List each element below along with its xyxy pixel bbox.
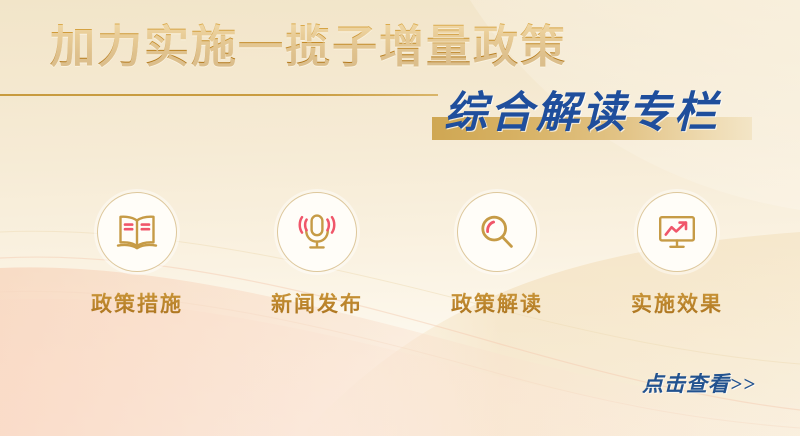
page-subtitle: 综合解读专栏 — [444, 88, 720, 140]
title-divider-rule — [0, 94, 438, 96]
click-to-view-link[interactable]: 点击查看>> — [642, 368, 756, 398]
category-item-implementation-effect[interactable]: 实施效果 — [602, 192, 752, 318]
category-item-policy-interpretation[interactable]: 政策解读 — [422, 192, 572, 318]
category-label-policy-interpretation: 政策解读 — [451, 288, 543, 318]
category-label-policy-measures: 政策措施 — [91, 288, 183, 318]
policy-banner: 加力实施一揽子增量政策 综合解读专栏 — [0, 0, 800, 436]
page-title: 加力实施一揽子增量政策 — [50, 21, 567, 73]
category-row: 政策措施 — [62, 192, 752, 318]
magnifier-icon[interactable] — [457, 192, 537, 272]
category-label-implementation-effect: 实施效果 — [631, 288, 723, 318]
line-chart-screen-icon[interactable] — [637, 192, 717, 272]
microphone-icon[interactable] — [277, 192, 357, 272]
headline-block: 加力实施一揽子增量政策 综合解读专栏 — [0, 0, 800, 172]
category-item-news-release[interactable]: 新闻发布 — [242, 192, 392, 318]
open-book-icon[interactable] — [97, 192, 177, 272]
category-label-news-release: 新闻发布 — [271, 288, 363, 318]
category-item-policy-measures[interactable]: 政策措施 — [62, 192, 212, 318]
